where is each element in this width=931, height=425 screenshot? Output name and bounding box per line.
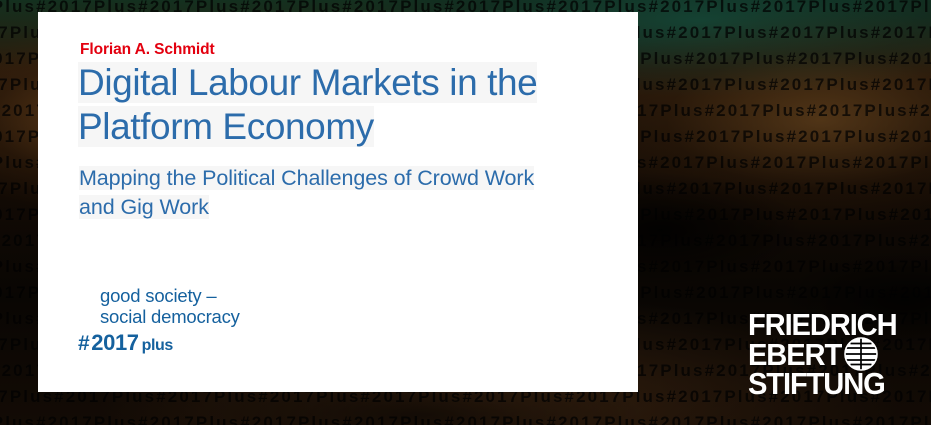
fes-logo-line-1: FRIEDRICH: [748, 312, 897, 339]
campaign-slogan: good society – social democracy: [100, 285, 240, 327]
campaign-slogan-line-2: social democracy: [100, 306, 240, 327]
title-line-1: Digital Labour Markets in the: [78, 62, 537, 103]
cover-content-card: Florian A. Schmidt Digital Labour Market…: [38, 12, 638, 392]
hashtag-plus: plus: [142, 337, 173, 354]
subtitle-line-2: and Gig Work: [79, 195, 209, 219]
fes-logo-line-2: EBERT: [748, 342, 841, 369]
page-subtitle: Mapping the Political Challenges of Crow…: [79, 164, 609, 222]
page-title: Digital Labour Markets in the Platform E…: [78, 61, 623, 149]
fes-logo-line-3: STIFTUNG: [748, 371, 897, 398]
campaign-slogan-line-1: good society –: [100, 285, 240, 306]
hashtag-year: 2017: [91, 330, 138, 355]
campaign-hashtag: #2017plus: [78, 330, 240, 356]
hashtag-symbol: #: [78, 332, 89, 355]
fes-logo: FRIEDRICH EBERT STIFTUNG: [748, 312, 906, 398]
title-line-2: Platform Economy: [78, 106, 374, 147]
author-name: Florian A. Schmidt: [80, 41, 215, 59]
subtitle-line-1: Mapping the Political Challenges of Crow…: [79, 166, 534, 190]
publication-cover: #2017Plus#2017Plus#2017Plus#2017Plus#201…: [0, 0, 931, 425]
campaign-mark: good society – social democracy #2017plu…: [78, 285, 240, 356]
